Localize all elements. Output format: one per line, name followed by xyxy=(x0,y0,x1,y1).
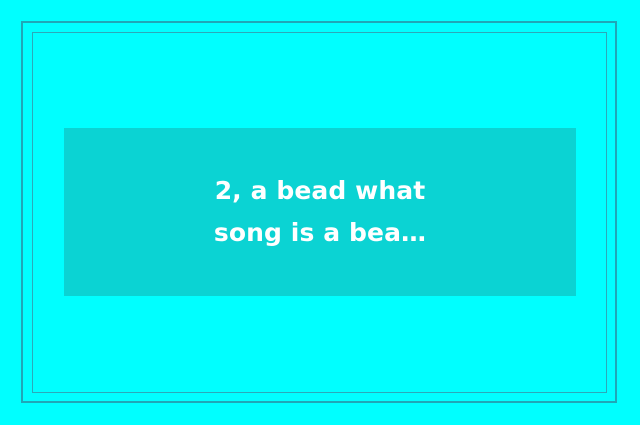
slide-canvas: 2, a bead what song is a bea… xyxy=(0,0,640,425)
text-banner-card: 2, a bead what song is a bea… xyxy=(64,128,576,296)
banner-text: 2, a bead what song is a bea… xyxy=(202,170,438,254)
